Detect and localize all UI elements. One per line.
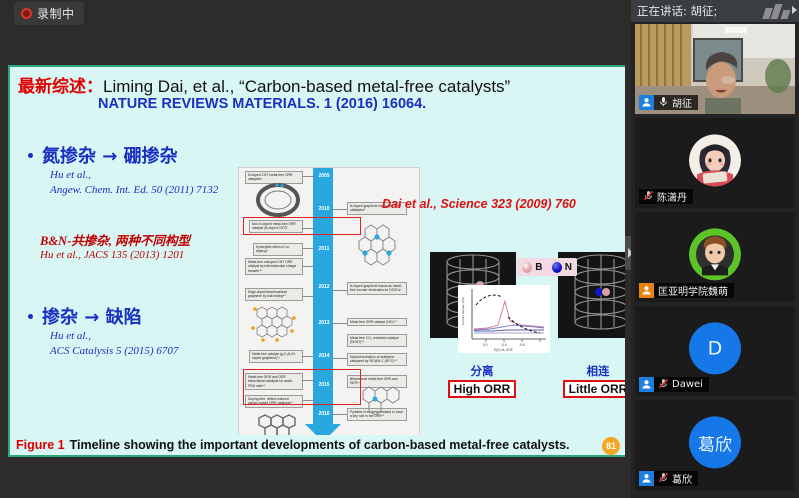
active-speaker-bar: 正在讲话: 胡征; (631, 0, 799, 22)
active-speaker-label: 正在讲话: 胡征; (631, 3, 717, 19)
participant-name: 匡亚明学院魏萌 (658, 283, 728, 298)
caption-text: Timeline showing the important developme… (65, 438, 570, 452)
highlight-box-2 (243, 369, 361, 405)
timeline-item-right: Hydrochlorination of acetylene catalysed… (347, 353, 407, 366)
avatar: D (689, 322, 741, 374)
figure-caption: Figure 1 Timeline showing the important … (8, 435, 630, 457)
bullet-1-ref-line2: Angew. Chem. Int. Ed. 50 (2011) 7132 (50, 183, 218, 198)
cnt-ring-molecule (255, 182, 301, 218)
zoom-meeting-window: 录制中 正在讲话: 胡征; 最新综述：Liming Dai, et al., “… (0, 0, 799, 498)
bullet-1-heading: 氮掺杂 → 硼掺杂 (42, 146, 178, 167)
recording-label: 录制中 (37, 5, 75, 22)
timeline-year: 2014 (314, 353, 334, 359)
person-icon (639, 471, 654, 486)
timeline-year: 2009 (314, 173, 334, 179)
participant-list[interactable]: 胡征 (631, 22, 799, 498)
presentation-slide: 最新综述：Liming Dai, et al., “Carbon-based m… (8, 65, 630, 448)
bullet-2-heading: 掺杂 → 缺陷 (42, 307, 142, 328)
participant-badge: Dawei (639, 377, 709, 392)
bullet-item-2: 掺杂 → 缺陷 Hu et al., ACS Catalysis 5 (2015… (28, 303, 178, 359)
participant-name-chip: 葛欣 (654, 471, 698, 486)
participant-name-chip: 陈潇丹 (639, 189, 693, 204)
bullet-1-ref-line1: Hu et al., (50, 168, 218, 183)
annotation-cn-1: 分离 (443, 363, 521, 379)
bullet-2-ref-line2: ACS Catalysis 5 (2015) 6707 (50, 344, 178, 359)
bullet-2-ref-line1: Hu et al., (50, 329, 178, 344)
edge-doped-graphene-molecule (247, 304, 305, 348)
timeline-year: 2011 (314, 246, 334, 252)
person-icon (639, 377, 654, 392)
timeline-item-right: Metal-free CO₂ reduction catalyst (NCNT)… (347, 334, 407, 347)
chevron-right-icon[interactable] (792, 6, 797, 14)
bullet-item-1: 氮掺杂 → 硼掺杂 Hu et al., Angew. Chem. Int. E… (28, 142, 218, 198)
avatar: 葛欣 (689, 416, 741, 468)
red-note: B&N-共掺杂, 两种不同构型 Hu et al., JACS 135 (201… (40, 230, 190, 261)
annotation-little-orr: 相连 Little ORR (556, 363, 630, 398)
slide-journal-ref: NATURE REVIEWS MATERIALS. 1 (2016) 16064… (98, 96, 426, 112)
timeline-year: 2013 (314, 320, 334, 326)
svg-text:Current Density (mA): Current Density (mA) (461, 297, 465, 325)
boron-sphere-icon (522, 262, 532, 273)
avatar (689, 228, 741, 280)
red-note-line2: Hu et al., JACS 135 (2013) 1201 (40, 249, 190, 261)
nitrogen-sphere-icon (552, 262, 562, 273)
participant-name: Dawei (672, 379, 703, 390)
bullet-dot-icon (28, 314, 33, 319)
person-icon (639, 283, 654, 298)
n-doped-graphene-molecule (351, 223, 407, 275)
bullet-dot-icon (28, 153, 33, 158)
mic-muted-icon (658, 378, 669, 392)
slide-title-cn: 最新综述： (18, 77, 103, 97)
timeline-year: 2010 (314, 206, 334, 212)
timeline-item-left: Synergetic effect of co-doping¹⁴ (253, 243, 303, 256)
slide-title: 最新综述：Liming Dai, et al., “Carbon-based m… (18, 72, 510, 97)
mic-on-icon (658, 96, 669, 110)
avatar-initial: D (708, 337, 723, 359)
timeline-item-left: Edge-doped/functionalized graphene by ba… (245, 288, 303, 301)
participant-badge: 胡征 (639, 95, 698, 110)
timeline-item-left: Metal-free catalyst (g-C₃N₄/N-doped grap… (249, 350, 303, 363)
participant-name-chip: 匡亚明学院魏萌 (654, 283, 734, 298)
record-dot-icon (21, 8, 32, 19)
participant-name: 胡征 (672, 95, 692, 110)
shared-screen-stage: 最新综述：Liming Dai, et al., “Carbon-based m… (0, 26, 630, 498)
participant-name: 陈潇丹 (657, 189, 687, 204)
highlight-box-1 (243, 217, 361, 235)
dai-reference: Dai et al., Science 323 (2009) 760 (382, 197, 576, 211)
mic-muted-icon (658, 472, 669, 486)
participant-badge: 陈潇丹 (639, 189, 693, 204)
annotation-en-1: High ORR (448, 380, 517, 398)
person-icon (639, 95, 654, 110)
participant-name-chip: Dawei (654, 377, 709, 392)
avatar-initial: 葛欣 (698, 430, 732, 455)
timeline-item-right: N-doped graphene foams as metal-free cou… (347, 282, 407, 295)
annotation-high-orr: 分离 High ORR (443, 363, 521, 398)
mic-muted-icon (643, 190, 654, 204)
timeline-year: 2016 (314, 411, 334, 417)
svg-text:0.0: 0.0 (483, 343, 488, 347)
page-number-badge: 81 (602, 437, 620, 455)
participant-badge: 葛欣 (639, 471, 698, 486)
annotation-en-2: Little ORR (563, 380, 630, 398)
participant-tile[interactable]: D Dawei (635, 306, 795, 396)
top-bar: 录制中 (0, 0, 630, 26)
timeline-year: 2012 (314, 284, 334, 290)
timeline-item-right: Metal-free ORR catalyst (N/C)⁴⁸ (347, 318, 407, 326)
participant-badge: 匡亚明学院魏萌 (639, 283, 734, 298)
timeline-item-left: Metal-free undoped CNT ORR catalyst by i… (245, 258, 303, 275)
participant-name-chip: 胡征 (654, 95, 698, 110)
bn-legend: B N (517, 258, 577, 276)
svg-text:-0.8: -0.8 (519, 343, 525, 347)
participant-tile[interactable]: 陈潇丹 (635, 118, 795, 208)
participant-name: 葛欣 (672, 471, 692, 486)
legend-label-n: N (565, 262, 572, 273)
red-note-line1: B&N-共掺杂, 两种不同构型 (40, 230, 190, 249)
caption-figure-label: Figure 1 (10, 438, 65, 452)
legend-label-b: B (535, 262, 542, 273)
cv-plot-inset: 0.0-0.4-0.8 E(V) vs. SCE Current Density… (458, 285, 550, 353)
participant-tile[interactable]: 胡征 (635, 24, 795, 114)
participant-tile[interactable]: 葛欣 葛欣 (635, 400, 795, 490)
annotation-cn-2: 相连 (556, 363, 630, 379)
participant-tile[interactable]: 匡亚明学院魏萌 (635, 212, 795, 302)
svg-text:-0.4: -0.4 (501, 343, 507, 347)
slide-title-en: Liming Dai, et al., “Carbon-based metal-… (103, 77, 510, 96)
recording-indicator[interactable]: 录制中 (14, 2, 84, 25)
svg-text:E(V) vs. SCE: E(V) vs. SCE (494, 348, 513, 352)
pyridinic-n-molecule (351, 384, 407, 418)
avatar (689, 134, 741, 186)
